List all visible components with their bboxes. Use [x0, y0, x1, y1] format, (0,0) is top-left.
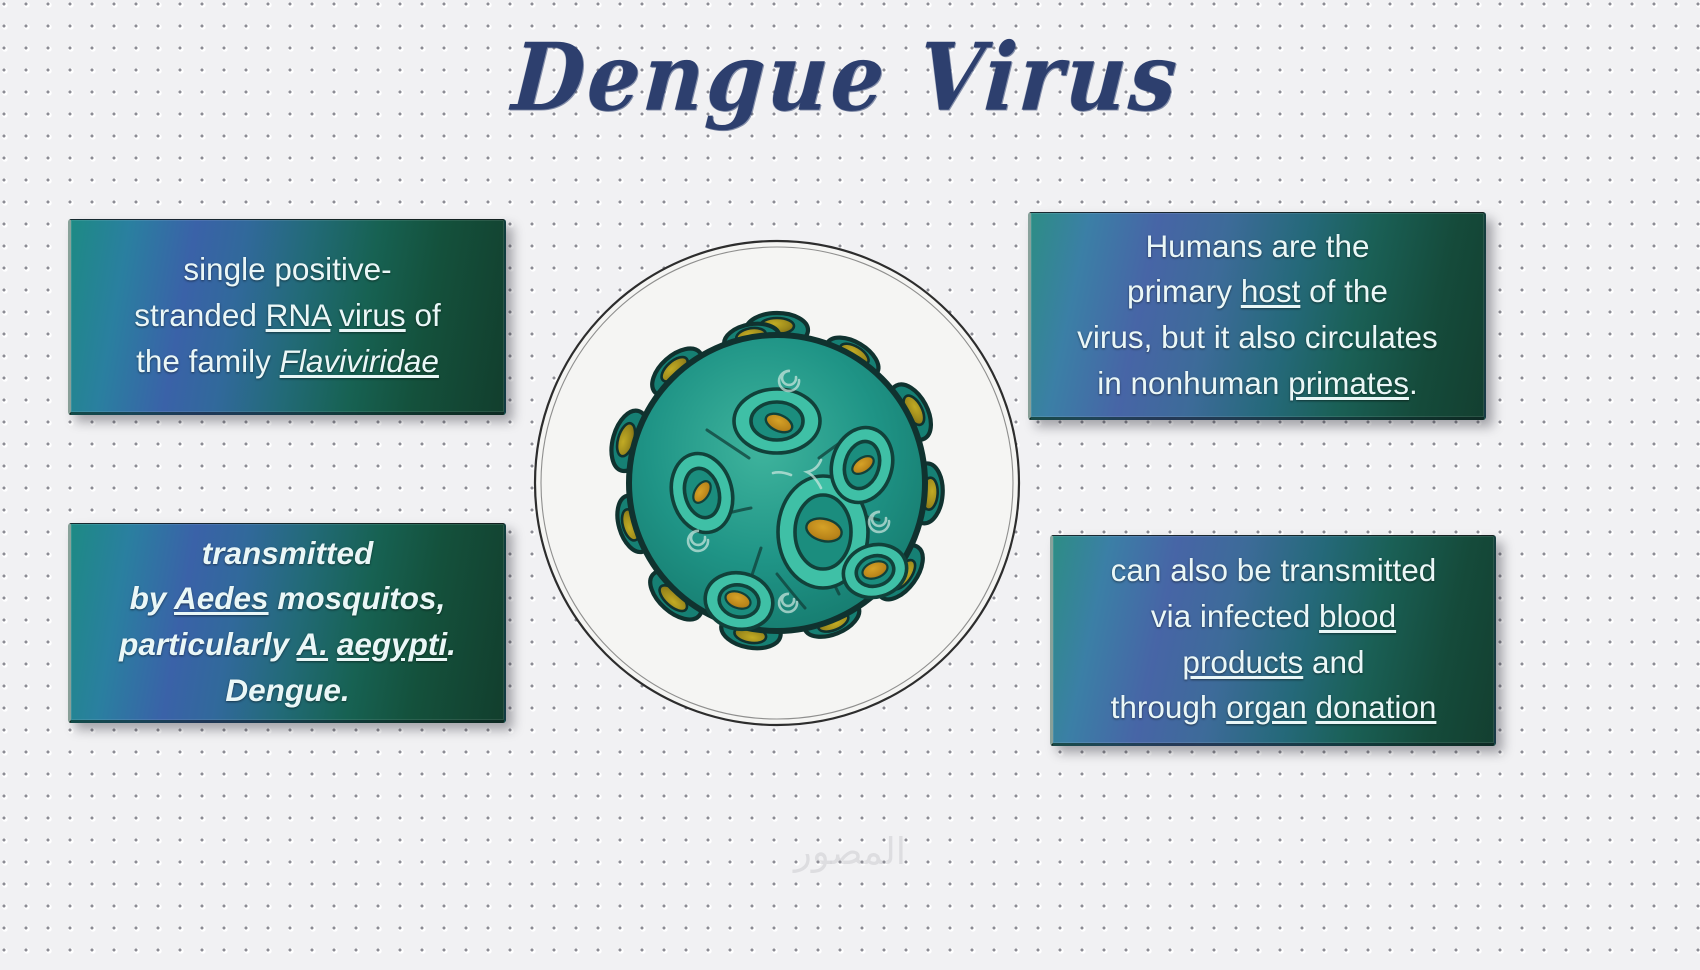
slide-canvas: Dengue Virus: [0, 0, 1700, 970]
callout-transmission-other: can also be transmittedvia infected bloo…: [1050, 535, 1496, 746]
callout-genome-text: single positive-stranded RNA virus ofthe…: [89, 247, 486, 384]
watermark: المصور: [0, 830, 1700, 873]
page-title: Dengue Virus: [0, 22, 1700, 132]
dengue-virion-illustration: [531, 222, 1023, 744]
callout-host-text: Humans are theprimary host of thevirus, …: [1049, 224, 1466, 407]
callout-transmission-vector-text: transmittedby Aedes mosquitos,particular…: [89, 531, 486, 714]
callout-genome: single positive-stranded RNA virus ofthe…: [68, 219, 506, 415]
callout-host: Humans are theprimary host of thevirus, …: [1028, 212, 1486, 420]
callout-transmission-other-text: can also be transmittedvia infected bloo…: [1071, 548, 1476, 731]
surface-pore: [734, 389, 820, 453]
callout-transmission-vector: transmittedby Aedes mosquitos,particular…: [68, 523, 506, 723]
